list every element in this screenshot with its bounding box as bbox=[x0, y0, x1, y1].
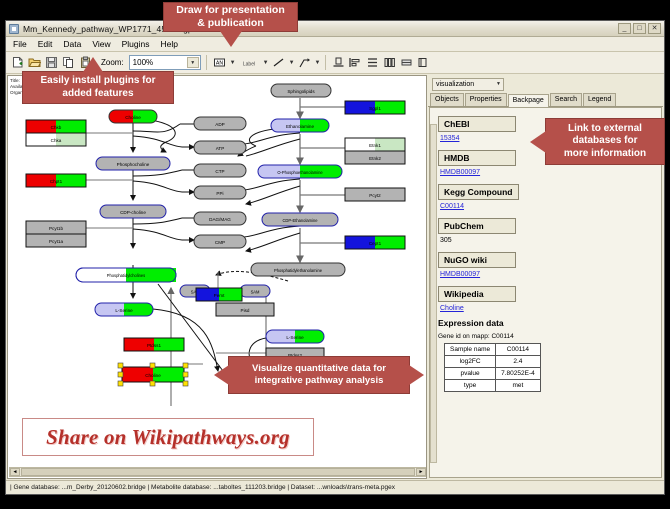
menu-item-edit[interactable]: Edit bbox=[36, 39, 55, 49]
callout-arrow-down-icon bbox=[220, 31, 242, 47]
callout-link-line2: databases for bbox=[572, 135, 637, 146]
copy-icon[interactable] bbox=[61, 55, 76, 70]
pathway-graph[interactable]: Sphingolipids Ethanolamine O-Phosphoetha… bbox=[8, 76, 427, 476]
callout-visualize-quantitative-data: Visualize quantitative data for integrat… bbox=[228, 356, 410, 394]
svg-text:Etnk2: Etnk2 bbox=[369, 156, 381, 161]
db-name-nugo: NuGO wiki bbox=[438, 252, 516, 268]
svg-text:Phosphatidylethanolamine: Phosphatidylethanolamine bbox=[274, 268, 323, 273]
svg-text:Pcyt1b: Pcyt1b bbox=[49, 226, 63, 231]
db-name-chebi: ChEBI bbox=[438, 116, 516, 132]
group-icon[interactable] bbox=[399, 55, 414, 70]
svg-text:Pcyt1a: Pcyt1a bbox=[49, 239, 63, 244]
tab-backpage[interactable]: Backpage bbox=[508, 94, 549, 107]
gene-chpt1[interactable]: Chpt1 bbox=[26, 174, 86, 187]
zoom-label: Zoom: bbox=[101, 58, 124, 67]
tab-search[interactable]: Search bbox=[550, 93, 582, 106]
svg-text:CTP: CTP bbox=[215, 169, 224, 174]
node-phosphatidylcholines[interactable]: Phosphatidylcholines bbox=[76, 268, 176, 282]
db-link-nugo[interactable]: HMDB00097 bbox=[440, 271, 655, 278]
node-cdp-choline[interactable]: CDP-choline bbox=[100, 205, 166, 218]
svg-text:Ptdss1: Ptdss1 bbox=[147, 343, 161, 348]
row-label-pvalue: pvalue bbox=[445, 368, 496, 380]
row-label-sample-name: Sample name bbox=[445, 344, 496, 356]
panel-split-handle[interactable] bbox=[430, 124, 437, 463]
gene-pcyt1a[interactable]: Pcyt1a bbox=[26, 234, 86, 247]
expression-data-title: Expression data bbox=[438, 318, 655, 328]
menu-item-plugins[interactable]: Plugins bbox=[120, 39, 152, 49]
callout-share-text: Share on Wikipathways.org bbox=[46, 425, 290, 450]
gene-etnk2[interactable]: Etnk2 bbox=[345, 151, 405, 164]
status-text: | Gene database: ...m_Derby_20120602.bri… bbox=[10, 484, 395, 491]
callout-arrow-left-icon bbox=[214, 365, 229, 385]
datanode-icon[interactable]: AN bbox=[212, 55, 227, 70]
align-bottom-icon[interactable] bbox=[331, 55, 346, 70]
svg-text:Etnk1: Etnk1 bbox=[369, 143, 381, 148]
order-icon[interactable] bbox=[416, 55, 431, 70]
db-link-kegg[interactable]: C00114 bbox=[440, 203, 655, 210]
status-bar: | Gene database: ...m_Derby_20120602.bri… bbox=[6, 480, 664, 494]
application-icon bbox=[9, 24, 19, 34]
zoom-combo[interactable]: 100% ▼ bbox=[129, 55, 201, 70]
new-file-icon[interactable] bbox=[10, 55, 25, 70]
label-icon[interactable]: Label bbox=[238, 55, 260, 70]
node-dagmag[interactable]: DAG/MAG bbox=[194, 212, 246, 225]
node-choline-top[interactable]: Choline bbox=[109, 110, 157, 123]
node-ethanolamine-1[interactable]: Ethanolamine bbox=[271, 119, 329, 132]
expression-data-table: Sample name C00114 log2FC 2.4 pvalue 7.8… bbox=[444, 343, 541, 392]
db-name-kegg: Kegg Compound bbox=[438, 184, 519, 200]
chevron-down-icon[interactable]: ▼ bbox=[496, 81, 501, 87]
gene-cept1[interactable]: Cept1 bbox=[345, 236, 405, 249]
db-name-wikipedia: Wikipedia bbox=[438, 286, 516, 302]
svg-text:O-Phosphoethanolamine: O-Phosphoethanolamine bbox=[277, 170, 323, 175]
label-dropdown-icon[interactable]: ▼ bbox=[263, 60, 269, 66]
row-label-type: type bbox=[445, 380, 496, 392]
row-label-log2fc: log2FC bbox=[445, 356, 496, 368]
callout-share-on-wikipathways: Share on Wikipathways.org bbox=[22, 418, 314, 456]
svg-text:Phosphocholine: Phosphocholine bbox=[117, 162, 150, 167]
node-o-phosphoethanolamine[interactable]: O-Phosphoethanolamine bbox=[258, 165, 342, 178]
node-sphingolipids[interactable]: Sphingolipids bbox=[271, 84, 331, 97]
align-left-icon[interactable] bbox=[348, 55, 363, 70]
callout-link-line3: more information bbox=[564, 148, 646, 159]
callout-visualize-line2: integrative pathway analysis bbox=[255, 375, 384, 386]
window-controls[interactable]: _ □ ✕ bbox=[618, 23, 661, 34]
node-atp[interactable]: ATP bbox=[194, 141, 246, 154]
callout-plugins-line1: Easily install plugins for bbox=[40, 75, 155, 86]
callout-draw-for-presentation: Draw for presentation & publication bbox=[163, 2, 298, 32]
gene-pcyt1b[interactable]: Pcyt1b bbox=[26, 221, 86, 234]
svg-text:Chkb: Chkb bbox=[51, 125, 62, 130]
db-value-pubchem: 305 bbox=[440, 237, 655, 244]
svg-text:Phosphatidylcholines: Phosphatidylcholines bbox=[107, 273, 145, 278]
menu-item-file[interactable]: File bbox=[11, 39, 29, 49]
node-adp[interactable]: ADP bbox=[194, 117, 246, 130]
svg-text:Pcyt2: Pcyt2 bbox=[369, 193, 381, 198]
table-row: pvalue 7.80252E-4 bbox=[445, 368, 541, 380]
svg-text:Sphingolipids: Sphingolipids bbox=[287, 89, 315, 94]
svg-text:CMP: CMP bbox=[215, 240, 225, 245]
connector-dropdown-icon[interactable]: ▼ bbox=[315, 60, 321, 66]
save-icon[interactable] bbox=[44, 55, 59, 70]
zoom-value: 100% bbox=[133, 58, 153, 67]
callout-arrow-right-icon bbox=[409, 365, 424, 385]
row-value-sample-name: C00114 bbox=[496, 344, 541, 356]
arrow-connector-icon[interactable] bbox=[297, 55, 312, 70]
svg-text:Chka: Chka bbox=[51, 138, 62, 143]
svg-text:Pisd: Pisd bbox=[241, 308, 250, 313]
visualization-combo-row: visualization ▼ bbox=[428, 75, 663, 93]
db-link-hmdb[interactable]: HMDB00097 bbox=[440, 169, 655, 176]
menu-item-data[interactable]: Data bbox=[61, 39, 83, 49]
gene-pcyt2[interactable]: Pcyt2 bbox=[345, 188, 405, 201]
visualization-combo-value: visualization bbox=[436, 81, 474, 88]
gene-sgpl1[interactable]: Sgpl1 bbox=[345, 101, 405, 114]
tab-properties[interactable]: Properties bbox=[465, 93, 507, 106]
node-cdp-ethanolamine[interactable]: CDP-Ethanolamine bbox=[262, 213, 338, 226]
row-value-pvalue: 7.80252E-4 bbox=[496, 368, 541, 380]
row-value-log2fc: 2.4 bbox=[496, 356, 541, 368]
callout-link-line1: Link to external bbox=[568, 123, 642, 134]
svg-text:Cept1: Cept1 bbox=[369, 241, 382, 246]
node-phosphatidylethanolamine[interactable]: Phosphatidylethanolamine bbox=[251, 263, 345, 276]
svg-text:L-Serine: L-Serine bbox=[286, 335, 304, 340]
svg-text:AN: AN bbox=[216, 61, 223, 67]
node-phosphocholine[interactable]: Phosphocholine bbox=[96, 157, 170, 170]
svg-text:ATP: ATP bbox=[216, 146, 225, 151]
node-l-serine-2[interactable]: L-Serine bbox=[266, 330, 324, 343]
callout-arrow-up-icon bbox=[83, 57, 103, 72]
svg-text:Sgpl1: Sgpl1 bbox=[369, 106, 381, 111]
line-dropdown-icon[interactable]: ▼ bbox=[289, 60, 295, 66]
row-value-type: met bbox=[496, 380, 541, 392]
node-l-serine-1[interactable]: L-Serine bbox=[95, 303, 153, 316]
db-block-wikipedia: Wikipedia Choline bbox=[438, 284, 655, 312]
chevron-down-icon[interactable]: ▼ bbox=[187, 57, 199, 68]
line-icon[interactable] bbox=[271, 55, 286, 70]
visualization-combo[interactable]: visualization ▼ bbox=[432, 78, 504, 91]
svg-text:CDP-Ethanolamine: CDP-Ethanolamine bbox=[282, 218, 318, 223]
db-name-hmdb: HMDB bbox=[438, 150, 516, 166]
node-sam[interactable]: SAM bbox=[240, 285, 270, 297]
table-row: log2FC 2.4 bbox=[445, 356, 541, 368]
canvas-horizontal-scrollbar[interactable]: ◄ ► bbox=[9, 467, 427, 477]
gene-etnk1[interactable]: Etnk1 bbox=[345, 138, 405, 151]
maximize-button[interactable]: □ bbox=[633, 23, 646, 34]
menu-item-help[interactable]: Help bbox=[159, 39, 180, 49]
scroll-left-button[interactable]: ◄ bbox=[10, 468, 20, 476]
node-cmp[interactable]: CMP bbox=[194, 235, 246, 248]
svg-text:Ethanolamine: Ethanolamine bbox=[286, 124, 315, 129]
node-choline-selected[interactable]: Choline bbox=[118, 363, 188, 386]
db-block-kegg: Kegg Compound C00114 bbox=[438, 182, 655, 210]
gene-chkb[interactable]: Chkb bbox=[26, 120, 86, 133]
minimize-button[interactable]: _ bbox=[618, 23, 631, 34]
node-ctp[interactable]: CTP bbox=[194, 164, 246, 177]
tab-legend[interactable]: Legend bbox=[583, 93, 616, 106]
gene-pisd[interactable]: Pisd bbox=[216, 303, 274, 316]
title-bar: Mm_Kennedy_pathway_WP1771_45176.gpml _ □… bbox=[6, 21, 664, 37]
gene-chka[interactable]: Chka bbox=[26, 133, 86, 146]
side-panel-tabs: Objects Properties Backpage Search Legen… bbox=[428, 93, 663, 107]
svg-text:Label: Label bbox=[243, 61, 255, 67]
scroll-right-button[interactable]: ► bbox=[416, 468, 426, 476]
gene-pemt[interactable]: Pemt bbox=[196, 288, 242, 301]
db-block-nugo: NuGO wiki HMDB00097 bbox=[438, 250, 655, 278]
svg-text:Chpt1: Chpt1 bbox=[50, 179, 63, 184]
gene-ptdss1[interactable]: Ptdss1 bbox=[124, 338, 184, 351]
db-name-pubchem: PubChem bbox=[438, 218, 516, 234]
callout-visualize-line1: Visualize quantitative data for bbox=[252, 363, 386, 374]
callout-plugins-line2: added features bbox=[62, 88, 133, 99]
svg-text:PPi: PPi bbox=[216, 191, 223, 196]
callout-easily-install-plugins: Easily install plugins for added feature… bbox=[22, 71, 174, 104]
distribute-icon[interactable] bbox=[382, 55, 397, 70]
svg-text:CDP-choline: CDP-choline bbox=[120, 210, 146, 215]
menu-bar: File Edit Data View Plugins Help bbox=[6, 37, 664, 52]
stack-icon[interactable] bbox=[365, 55, 380, 70]
svg-text:DAG/MAG: DAG/MAG bbox=[209, 217, 231, 222]
callout-draw-line1: Draw for presentation bbox=[176, 4, 285, 16]
db-link-wikipedia[interactable]: Choline bbox=[440, 305, 655, 312]
svg-text:Pemt: Pemt bbox=[214, 293, 225, 298]
open-folder-icon[interactable] bbox=[27, 55, 42, 70]
expression-gene-id: Gene id on mapp: C00114 bbox=[438, 333, 655, 340]
toolbar-separator-2 bbox=[325, 55, 326, 70]
menu-item-view[interactable]: View bbox=[90, 39, 112, 49]
node-ppi[interactable]: PPi bbox=[194, 186, 246, 199]
scroll-thumb[interactable] bbox=[21, 468, 415, 476]
callout-draw-line2: & publication bbox=[197, 17, 264, 29]
svg-text:Choline: Choline bbox=[145, 373, 161, 378]
svg-text:L-Serine: L-Serine bbox=[115, 308, 133, 313]
table-row: type met bbox=[445, 380, 541, 392]
svg-text:ADP: ADP bbox=[215, 122, 224, 127]
svg-text:Choline: Choline bbox=[125, 115, 141, 120]
table-row: Sample name C00114 bbox=[445, 344, 541, 356]
callout-arrow-left-icon bbox=[530, 131, 546, 153]
tab-objects[interactable]: Objects bbox=[430, 93, 464, 106]
close-button[interactable]: ✕ bbox=[648, 23, 661, 34]
svg-text:SAM: SAM bbox=[251, 290, 260, 295]
toolbar-separator bbox=[206, 55, 207, 70]
db-block-pubchem: PubChem 305 bbox=[438, 216, 655, 244]
datanode-dropdown-icon[interactable]: ▼ bbox=[230, 60, 236, 66]
callout-link-to-external-databases: Link to external databases for more info… bbox=[545, 118, 665, 165]
